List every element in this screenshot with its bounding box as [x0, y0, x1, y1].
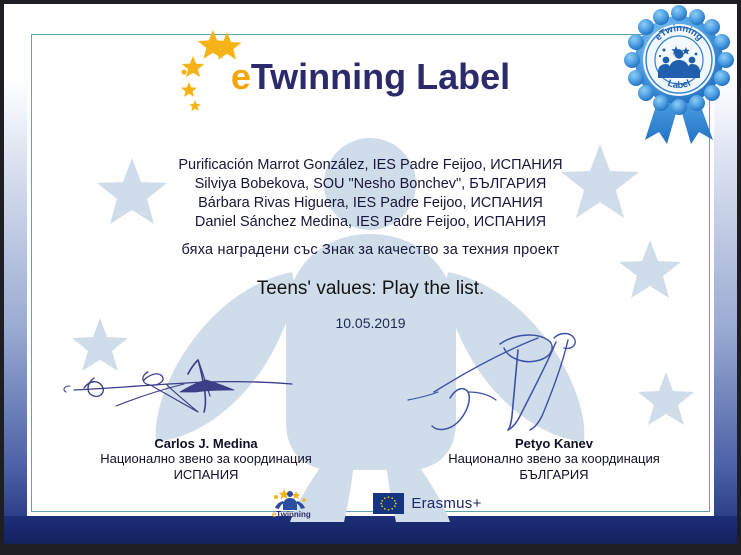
list-item: Silviya Bobekova, SOU "Nesho Bonchev", Б…	[4, 175, 737, 194]
etwinning-label-wordmark: eTwinning Label	[231, 42, 510, 112]
certificate-image: eTwinning Label Purificación Marrot Gonz…	[0, 0, 741, 555]
signatory-role: Национално звено за координация	[404, 451, 704, 467]
etwinning-label-seal-icon: eTwinning Label	[623, 4, 735, 144]
award-date: 10.05.2019	[4, 315, 737, 331]
footer-logo-rest-text: Twinning	[276, 510, 311, 519]
signatory-country: БЪЛГАРИЯ	[404, 467, 704, 483]
certificate-page: eTwinning Label Purificación Marrot Gonz…	[4, 4, 737, 544]
award-phrase: бяха наградени със Знак за качество за т…	[4, 242, 737, 258]
etwinning-footer-wordmark: eTwinning	[272, 510, 311, 519]
etwinning-footer-logo: eTwinning	[259, 488, 323, 519]
signatory-name: Petyo Kanev	[404, 436, 704, 451]
signatory-role: Национално звено за координация	[56, 451, 356, 467]
signatory-name: Carlos J. Medina	[56, 436, 356, 451]
signature-block-bulgaria: Petyo Kanev Национално звено за координа…	[404, 330, 704, 483]
signature-block-spain: Carlos J. Medina Национално звено за коо…	[56, 340, 356, 483]
list-item: Daniel Sánchez Medina, IES Padre Feijoo,…	[4, 213, 737, 232]
handwritten-signature-icon	[56, 340, 356, 436]
list-item: Bárbara Rivas Higuera, IES Padre Feijoo,…	[4, 194, 737, 213]
european-union-flag-icon	[373, 493, 404, 514]
footer-logos: eTwinning	[4, 488, 737, 519]
eu-stars-icon	[179, 28, 249, 114]
etwinning-figure-icon	[271, 488, 311, 510]
signature-drawing-left	[56, 340, 356, 436]
erasmus-plus-text: Erasmus+	[411, 495, 481, 512]
project-title: Teens' values: Play the list.	[4, 278, 737, 300]
handwritten-signature-icon	[404, 330, 704, 436]
participants-list: Purificación Marrot González, IES Padre …	[4, 156, 737, 232]
logo-rest-text: Twinning Label	[251, 56, 510, 97]
signature-drawing-right	[404, 330, 704, 436]
erasmus-plus-logo: Erasmus+	[373, 493, 481, 514]
list-item: Purificación Marrot González, IES Padre …	[4, 156, 737, 175]
signatory-country: ИСПАНИЯ	[56, 467, 356, 483]
